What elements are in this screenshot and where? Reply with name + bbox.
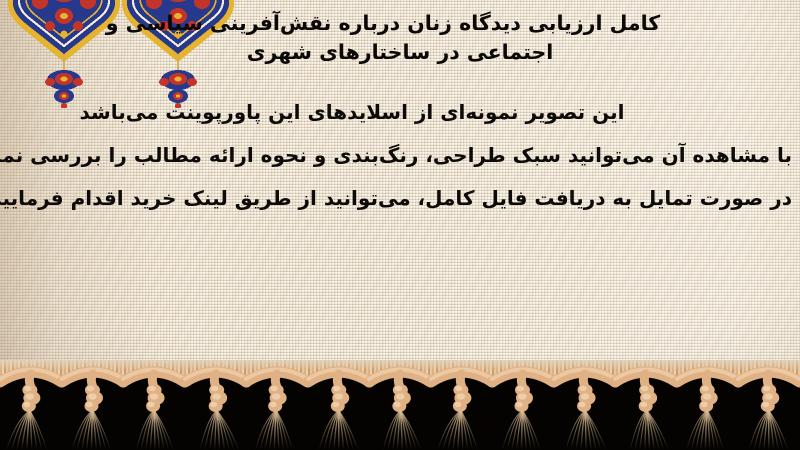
slide-body-line-2: با مشاهده آن می‌توانید سبک طراحی، رنگ‌بن… <box>8 134 792 177</box>
fringe-tassel <box>732 360 800 450</box>
carpet-fringe-band <box>0 360 800 450</box>
slide-body-line-3: در صورت تمایل به دریافت فایل کامل، می‌تو… <box>8 177 792 220</box>
slide-body-line-1: این تصویر نمونه‌ای از اسلایدهای این پاور… <box>8 91 792 134</box>
slide-canvas: کامل ارزیابی دیدگاه زنان درباره نقش‌آفری… <box>0 0 800 450</box>
slide-title-line-1: کامل ارزیابی دیدگاه زنان درباره نقش‌آفری… <box>8 9 792 38</box>
slide-body-block: این تصویر نمونه‌ای از اسلایدهای این پاور… <box>8 91 792 220</box>
fringe-tassel-row <box>0 360 800 450</box>
slide-text-stack: کامل ارزیابی دیدگاه زنان درباره نقش‌آفری… <box>0 0 800 372</box>
slide-title-line-2: اجتماعی در ساختارهای شهری <box>8 38 792 67</box>
